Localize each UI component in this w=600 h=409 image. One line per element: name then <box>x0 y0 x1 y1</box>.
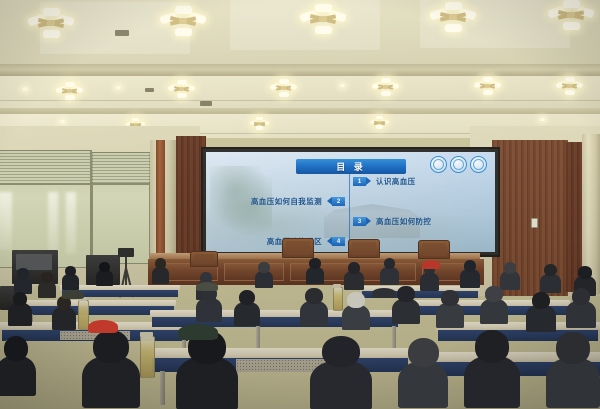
dark-cap-icon <box>178 324 218 340</box>
slide-toc-number: 1 <box>353 177 366 186</box>
audience-head <box>99 262 110 272</box>
audience-member <box>0 336 36 396</box>
audience-member <box>398 338 448 408</box>
audience-shoulders <box>392 299 420 324</box>
ceiling-lamp <box>160 6 206 36</box>
window-mullion <box>90 150 92 268</box>
audience-head <box>475 330 510 363</box>
dark-cap-icon <box>62 290 84 299</box>
audience-shoulders <box>96 270 113 286</box>
dark-cap-icon <box>372 288 396 298</box>
audience-shoulders <box>52 307 76 330</box>
ceiling-lamp <box>168 80 196 98</box>
audience-member <box>8 292 32 326</box>
ceiling-lamp <box>556 77 584 95</box>
ceiling-lamp <box>56 82 84 100</box>
window-glare <box>48 192 58 254</box>
slide-title-banner: 目 录 <box>296 159 406 174</box>
stage-chair <box>282 238 314 258</box>
audience-head <box>578 266 592 279</box>
ceiling-downlight <box>116 86 121 89</box>
ceiling-vent-icon <box>200 101 212 106</box>
audience-member <box>196 286 222 322</box>
audience-head <box>305 288 322 304</box>
audience-member <box>300 288 328 326</box>
ceiling-downlight <box>540 118 545 121</box>
audience-head <box>397 286 414 302</box>
audience-head <box>258 262 269 273</box>
audience-member <box>14 268 32 294</box>
audience-member <box>436 290 464 328</box>
ceiling-downlight <box>60 120 65 123</box>
audience-shoulders <box>342 305 370 330</box>
audience-shoulders <box>176 357 238 409</box>
window-glare <box>66 192 76 254</box>
ceiling-vent-icon <box>115 30 129 36</box>
audience-member <box>392 286 420 324</box>
audience-shoulders <box>196 298 222 322</box>
ceiling-vent-icon <box>145 88 154 92</box>
audience-member <box>540 264 561 293</box>
audience-shoulders <box>546 358 600 408</box>
audience-member <box>52 296 76 330</box>
ceiling-lamp <box>370 116 389 129</box>
window-mullion <box>0 183 150 185</box>
audience-head <box>65 266 76 276</box>
audience-member <box>234 290 260 326</box>
slide-toc-label: 认识高血压 <box>376 176 416 187</box>
audience-head <box>504 262 516 274</box>
dark-cap-icon <box>196 282 218 291</box>
ceiling-lamp <box>250 117 269 130</box>
audience-shoulders <box>310 361 372 409</box>
audience-shoulders <box>464 356 520 408</box>
audience-member <box>152 258 169 284</box>
audience-head <box>17 268 28 279</box>
ceiling-lamp <box>430 2 476 32</box>
audience-shoulders <box>460 269 480 288</box>
projection-screen: 目 录 1认识高血压高血压如何自我监测23高血压如何防控高血压防治误区4 <box>206 152 495 252</box>
org-logo-3-icon <box>470 156 487 173</box>
audience-head <box>532 292 551 309</box>
ceiling-lamp <box>372 78 400 96</box>
ceiling-downlight <box>340 84 345 87</box>
audience-head <box>464 260 476 272</box>
conference-hall-photo: 目 录 1认识高血压高血压如何自我监测23高血压如何防控高血压防治误区4 <box>0 0 600 409</box>
ceiling-lamp <box>28 8 74 38</box>
audience-member <box>344 262 364 290</box>
bottle-cap <box>140 332 153 337</box>
ceiling-downlight <box>22 87 28 91</box>
audience-head <box>485 286 502 302</box>
slide-toc-number: 4 <box>332 237 345 246</box>
window-glare <box>0 192 12 250</box>
audience-member <box>464 330 520 408</box>
window-blind <box>92 152 150 184</box>
audience-shoulders <box>344 271 364 290</box>
audience-shoulders <box>234 302 260 326</box>
audience-shoulders <box>306 267 324 284</box>
ceiling-lamp <box>270 79 298 97</box>
audience-head <box>441 290 458 306</box>
slide-toc-label: 高血压如何自我监测 <box>251 196 322 207</box>
audience-member <box>96 262 113 286</box>
water-bottle <box>140 336 155 378</box>
stage-panel <box>224 263 284 281</box>
light-switch[interactable] <box>531 218 538 228</box>
audience-head <box>544 264 557 276</box>
org-logo-1-icon <box>430 156 447 173</box>
audience-member <box>62 266 79 290</box>
audience-shoulders <box>480 299 508 324</box>
ceiling-lamp <box>548 0 594 30</box>
audience-shoulders <box>300 301 328 326</box>
audience-shoulders <box>398 362 448 408</box>
red-knit-hat-icon <box>88 320 118 333</box>
ceiling-lamp <box>300 4 346 34</box>
slide-toc-number: 3 <box>353 217 366 226</box>
audience-head <box>556 332 589 364</box>
audience-head <box>155 258 166 269</box>
audience-shoulders <box>566 301 596 328</box>
audience-head <box>348 262 360 274</box>
stage-chair <box>190 251 218 267</box>
red-knit-hat-icon <box>422 260 440 269</box>
audience-shoulders <box>152 267 169 284</box>
audience-shoulders <box>82 356 140 408</box>
slide-toc-item: 3高血压如何防控 <box>349 216 431 227</box>
audience-member <box>38 272 56 298</box>
slide-toc-item: 高血压如何自我监测2 <box>251 196 349 207</box>
audience-head <box>408 338 439 367</box>
audience-member <box>526 292 556 332</box>
audience-member <box>310 336 372 409</box>
audience-member <box>380 258 399 285</box>
audience-shoulders <box>0 356 36 396</box>
audience-member <box>255 262 273 288</box>
ceiling-seam <box>0 100 600 101</box>
audience-member <box>82 330 140 408</box>
audience-member <box>176 330 238 409</box>
audience-head <box>13 292 28 306</box>
slide-toc-item: 1认识高血压 <box>349 176 416 187</box>
audience-shoulders <box>380 267 399 285</box>
audience-member <box>460 260 480 288</box>
stage-chair <box>348 239 380 258</box>
slide-toc-label: 高血压如何防控 <box>376 216 431 227</box>
audience-head <box>572 288 591 305</box>
audience-member <box>306 258 324 284</box>
org-logo-2-icon <box>450 156 467 173</box>
audience-member <box>342 292 370 330</box>
bottle-cap <box>333 284 341 288</box>
audience-head <box>309 258 320 269</box>
audience-member <box>480 286 508 324</box>
ceiling-lamp <box>474 77 502 95</box>
stage-chair <box>418 240 450 259</box>
audience-head <box>41 272 52 283</box>
audience-shoulders <box>540 274 561 293</box>
audience-shoulders <box>8 303 32 326</box>
audience-head <box>93 330 129 363</box>
audience-head <box>322 336 360 367</box>
slide-toc-number: 2 <box>332 197 345 206</box>
audience-shoulders <box>420 273 439 291</box>
audience-member <box>546 332 600 408</box>
ceiling-middle-tier <box>0 76 600 112</box>
audience-head <box>4 336 29 361</box>
audience-head <box>347 292 364 308</box>
audience-shoulders <box>255 271 273 288</box>
window-blind <box>0 150 92 184</box>
audience-shoulders <box>62 274 79 290</box>
audience-shoulders <box>436 303 464 328</box>
audience-shoulders <box>526 305 556 332</box>
audience-head <box>239 290 255 305</box>
audience-member <box>566 288 596 328</box>
